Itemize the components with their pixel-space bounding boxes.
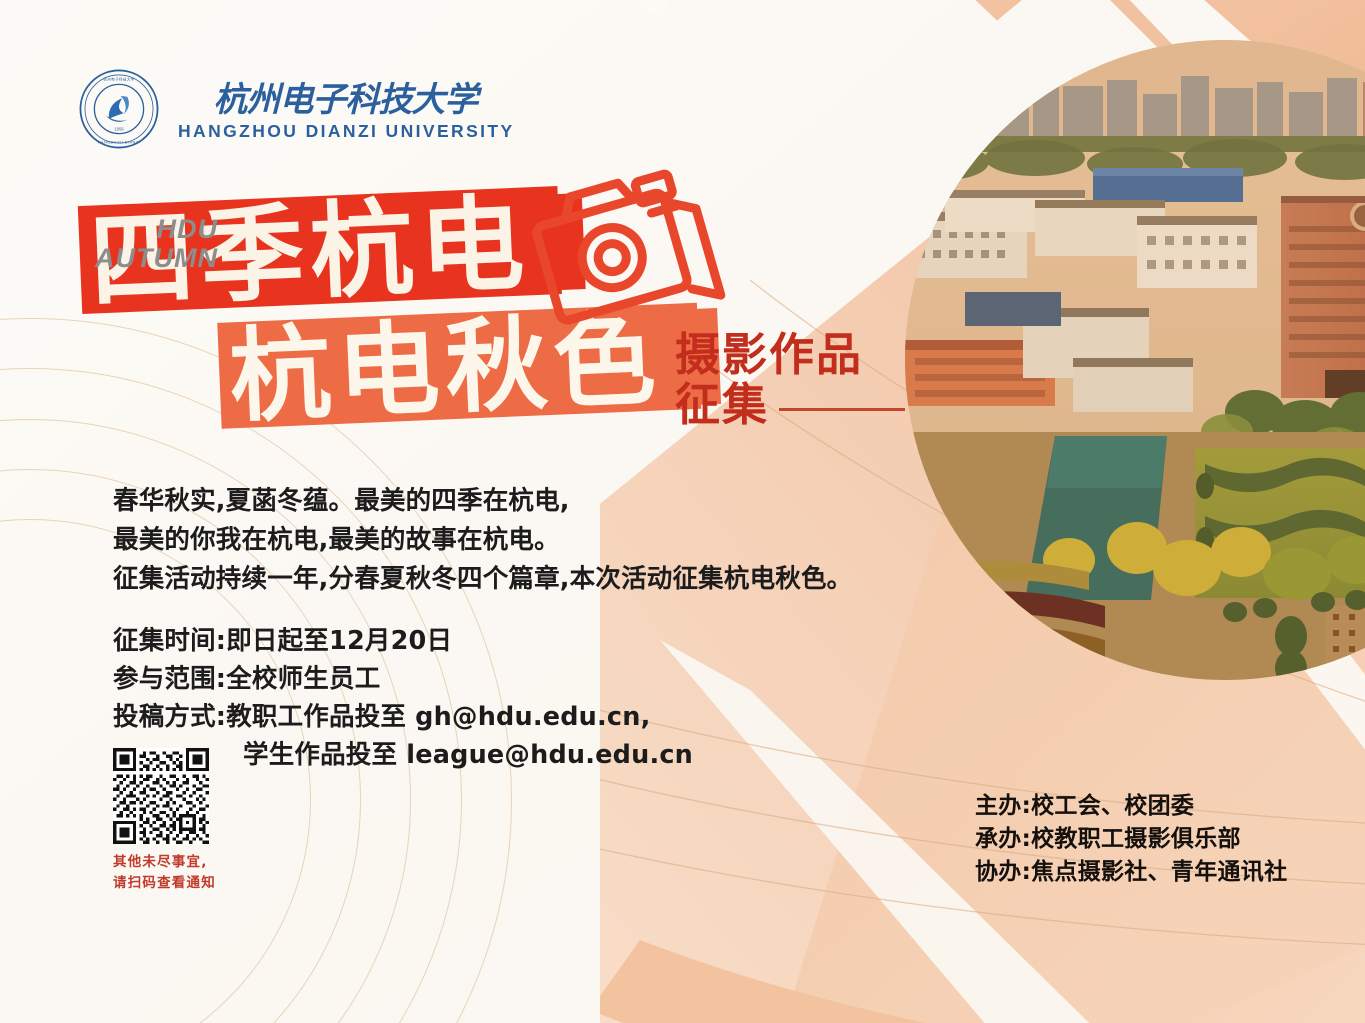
subtitle-line-2: 征集 [675, 380, 769, 430]
campus-aerial-photo-illustration [905, 40, 1365, 680]
subtitle-block: 摄影作品 征集 [675, 330, 935, 431]
organizers-block: 主办:校工会、校团委 承办:校教职工摄影俱乐部 协办:焦点摄影社、青年通讯社 [975, 790, 1287, 889]
svg-text:杭州电子科技大学: 杭州电子科技大学 [213, 80, 482, 119]
qr-code-icon[interactable] [113, 748, 209, 844]
subtitle-rule [779, 408, 905, 411]
body-copy: 春华秋实,夏菡冬蕴。最美的四季在杭电, 最美的你我在杭电,最美的故事在杭电。 征… [113, 482, 913, 599]
body-copy-line-2: 最美的你我在杭电,最美的故事在杭电。 [113, 521, 913, 560]
university-wordmark: 杭州电子科技大学 HANGZHOU DIANZI UNIVERSITY [178, 77, 515, 141]
campus-aerial-photo [905, 40, 1365, 680]
camera-icon [520, 160, 730, 350]
detail-value-time: 即日起至12月20日 [226, 626, 452, 656]
detail-value-submit-student: 学生作品投至 league@hdu.edu.cn [243, 740, 693, 770]
qr-block: 其他未尽事宜, 请扫码查看通知 [113, 748, 216, 894]
university-name-cn-calligraphy: 杭州电子科技大学 [178, 77, 515, 121]
university-name-en: HANGZHOU DIANZI UNIVERSITY [178, 123, 515, 141]
detail-row-submit-staff: 投稿方式:教职工作品投至 gh@hdu.edu.cn, [113, 698, 933, 736]
svg-text:HANGZHOU DIANZI: HANGZHOU DIANZI [98, 140, 140, 144]
svg-text:1956: 1956 [114, 126, 124, 131]
body-copy-line-3: 征集活动持续一年,分春夏秋冬四个篇章,本次活动征集杭电秋色。 [113, 560, 913, 599]
organizer-coorganizer: 协办:焦点摄影社、青年通讯社 [975, 856, 1287, 889]
detail-label-scope: 参与范围: [113, 664, 226, 694]
details-block: 征集时间:即日起至12月20日 参与范围:全校师生员工 投稿方式:教职工作品投至… [113, 622, 933, 774]
tagline-autumn: AUTUMN [58, 244, 218, 273]
detail-row-scope: 参与范围:全校师生员工 [113, 660, 933, 698]
tagline-hdu: HDU [58, 215, 218, 244]
body-copy-line-1: 春华秋实,夏菡冬蕴。最美的四季在杭电, [113, 482, 913, 521]
detail-row-time: 征集时间:即日起至12月20日 [113, 622, 933, 660]
organizer-organizer: 承办:校教职工摄影俱乐部 [975, 823, 1287, 856]
svg-text:杭州电子科技大学: 杭州电子科技大学 [103, 76, 134, 81]
qr-note: 其他未尽事宜, 请扫码查看通知 [113, 852, 216, 894]
subtitle-line-1: 摄影作品 [675, 330, 935, 380]
organizer-host: 主办:校工会、校团委 [975, 790, 1287, 823]
university-logo: 1956 HANGZHOU DIANZI 杭州电子科技大学 杭州电子科技大学 H… [78, 68, 515, 150]
detail-row-submit-student: 学生作品投至 league@hdu.edu.cn [113, 736, 933, 774]
qr-note-line-1: 其他未尽事宜, [113, 852, 216, 873]
poster-canvas: 1956 HANGZHOU DIANZI 杭州电子科技大学 杭州电子科技大学 H… [0, 0, 1365, 1023]
university-seal-icon: 1956 HANGZHOU DIANZI 杭州电子科技大学 [78, 68, 160, 150]
detail-label-time: 征集时间: [113, 626, 226, 656]
headline-tagline-en: HDU AUTUMN [58, 215, 218, 273]
qr-note-line-2: 请扫码查看通知 [113, 873, 216, 894]
detail-value-scope: 全校师生员工 [226, 664, 380, 694]
detail-value-submit-staff: 教职工作品投至 gh@hdu.edu.cn, [226, 702, 650, 732]
detail-label-submit: 投稿方式: [113, 702, 226, 732]
